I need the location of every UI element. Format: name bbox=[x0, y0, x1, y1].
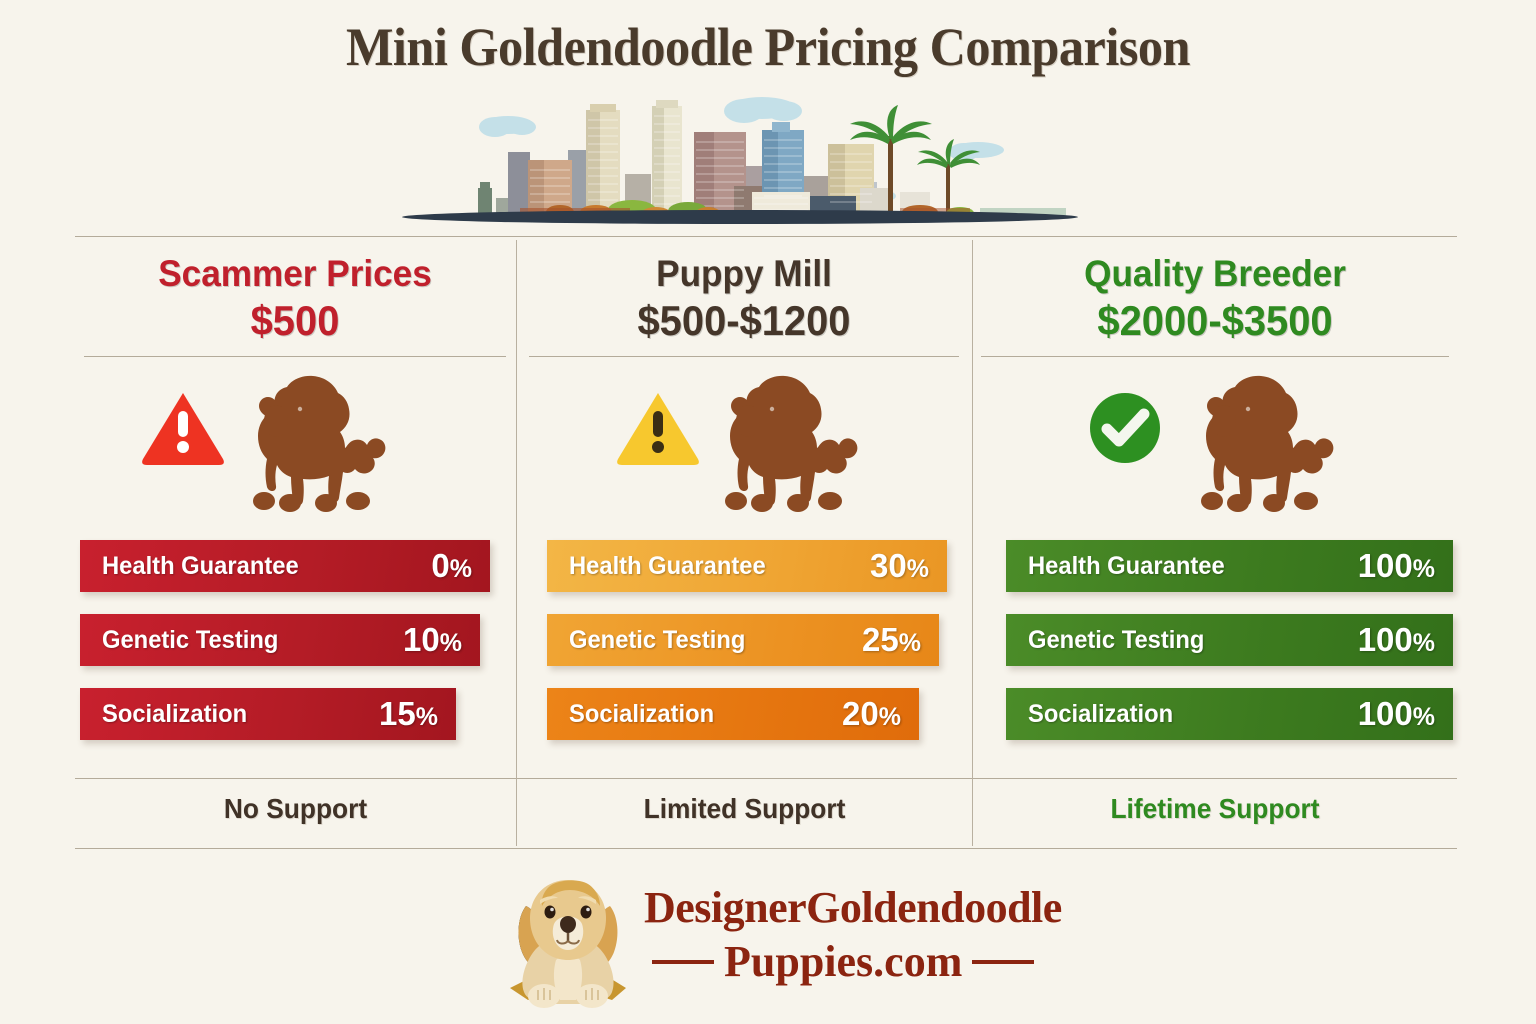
metric-label: Socialization bbox=[102, 700, 247, 729]
metric-value: 20% bbox=[842, 695, 901, 733]
metric-bar[interactable]: Health Guarantee 30% bbox=[547, 540, 947, 592]
column-header-puppy-mill: Puppy Mill $500-$1200 bbox=[517, 252, 971, 357]
brand-line-2-row: Puppies.com bbox=[644, 936, 1052, 988]
infographic-root: Mini Goldendoodle Pricing Comparison bbox=[0, 0, 1536, 1024]
column-puppy-mill: Puppy Mill $500-$1200 bbox=[517, 240, 971, 780]
icon-row-puppy-mill bbox=[517, 367, 971, 517]
dog-silhouette-icon bbox=[230, 373, 400, 521]
metric-bar[interactable]: Socialization 20% bbox=[547, 688, 919, 740]
goldendoodle-puppy-icon bbox=[492, 862, 644, 1019]
metric-label: Genetic Testing bbox=[102, 626, 278, 655]
logo-dash-left bbox=[652, 960, 714, 964]
metric-bar[interactable]: Health Guarantee 100% bbox=[1006, 540, 1453, 592]
metric-label: Socialization bbox=[569, 700, 714, 729]
metric-label: Health Guarantee bbox=[102, 552, 299, 581]
divider-bottom-lower bbox=[75, 848, 1457, 849]
brand-line-1: DesignerGoldendoodle bbox=[644, 882, 1052, 934]
header-underline bbox=[529, 356, 959, 357]
warning-triangle-red-icon bbox=[140, 389, 226, 472]
metric-bars-scammer: Health Guarantee 0% Genetic Testing 10% … bbox=[80, 540, 515, 762]
brand-line-2: Puppies.com bbox=[724, 936, 962, 988]
city-skyline-illustration bbox=[400, 92, 1080, 227]
brand-logo[interactable]: DesignerGoldendoodle Puppies.com bbox=[492, 862, 1052, 1022]
column-price: $2000-$3500 bbox=[985, 296, 1445, 346]
metric-value: 100% bbox=[1358, 547, 1435, 585]
column-price: $500-$1200 bbox=[528, 296, 959, 346]
column-title: Puppy Mill bbox=[528, 252, 959, 296]
icon-row-scammer bbox=[75, 367, 515, 517]
icon-row-quality-breeder bbox=[973, 367, 1457, 517]
dog-silhouette-icon bbox=[1178, 373, 1348, 521]
column-header-scammer: Scammer Prices $500 bbox=[75, 252, 515, 357]
column-title: Quality Breeder bbox=[985, 252, 1445, 296]
metric-value: 30% bbox=[870, 547, 929, 585]
metric-bars-quality-breeder: Health Guarantee 100% Genetic Testing 10… bbox=[1006, 540, 1457, 762]
column-title: Scammer Prices bbox=[86, 252, 504, 296]
support-label-puppy-mill: Limited Support bbox=[531, 793, 959, 835]
metric-value: 100% bbox=[1358, 621, 1435, 659]
warning-triangle-yellow-icon bbox=[615, 389, 701, 472]
page-title: Mini Goldendoodle Pricing Comparison bbox=[54, 16, 1482, 78]
column-scammer: Scammer Prices $500 bbox=[75, 240, 515, 780]
metric-value: 100% bbox=[1358, 695, 1435, 733]
column-quality-breeder: Quality Breeder $2000-$3500 bbox=[973, 240, 1457, 780]
column-price: $500 bbox=[86, 296, 504, 346]
metric-label: Genetic Testing bbox=[1028, 626, 1204, 655]
column-header-quality-breeder: Quality Breeder $2000-$3500 bbox=[973, 252, 1457, 357]
metric-bars-puppy-mill: Health Guarantee 30% Genetic Testing 25%… bbox=[547, 540, 971, 762]
metric-value: 15% bbox=[379, 695, 438, 733]
metric-bar[interactable]: Socialization 100% bbox=[1006, 688, 1453, 740]
metric-bar[interactable]: Genetic Testing 100% bbox=[1006, 614, 1453, 666]
support-label-scammer: No Support bbox=[88, 793, 503, 835]
brand-logo-text: DesignerGoldendoodle Puppies.com bbox=[644, 882, 1052, 988]
metric-value: 0% bbox=[431, 547, 472, 585]
metric-bar[interactable]: Genetic Testing 10% bbox=[80, 614, 480, 666]
metric-bar[interactable]: Genetic Testing 25% bbox=[547, 614, 939, 666]
divider-top bbox=[75, 236, 1457, 237]
metric-value: 25% bbox=[862, 621, 921, 659]
metric-value: 10% bbox=[403, 621, 462, 659]
metric-label: Socialization bbox=[1028, 700, 1173, 729]
header-underline bbox=[84, 356, 506, 357]
metric-label: Health Guarantee bbox=[1028, 552, 1225, 581]
metric-bar[interactable]: Health Guarantee 0% bbox=[80, 540, 490, 592]
dog-silhouette-icon bbox=[702, 373, 872, 521]
check-circle-green-icon bbox=[1086, 389, 1164, 472]
metric-bar[interactable]: Socialization 15% bbox=[80, 688, 456, 740]
metric-label: Health Guarantee bbox=[569, 552, 766, 581]
support-label-quality-breeder: Lifetime Support bbox=[988, 793, 1443, 835]
logo-dash-right bbox=[972, 960, 1034, 964]
header-underline bbox=[981, 356, 1449, 357]
metric-label: Genetic Testing bbox=[569, 626, 745, 655]
